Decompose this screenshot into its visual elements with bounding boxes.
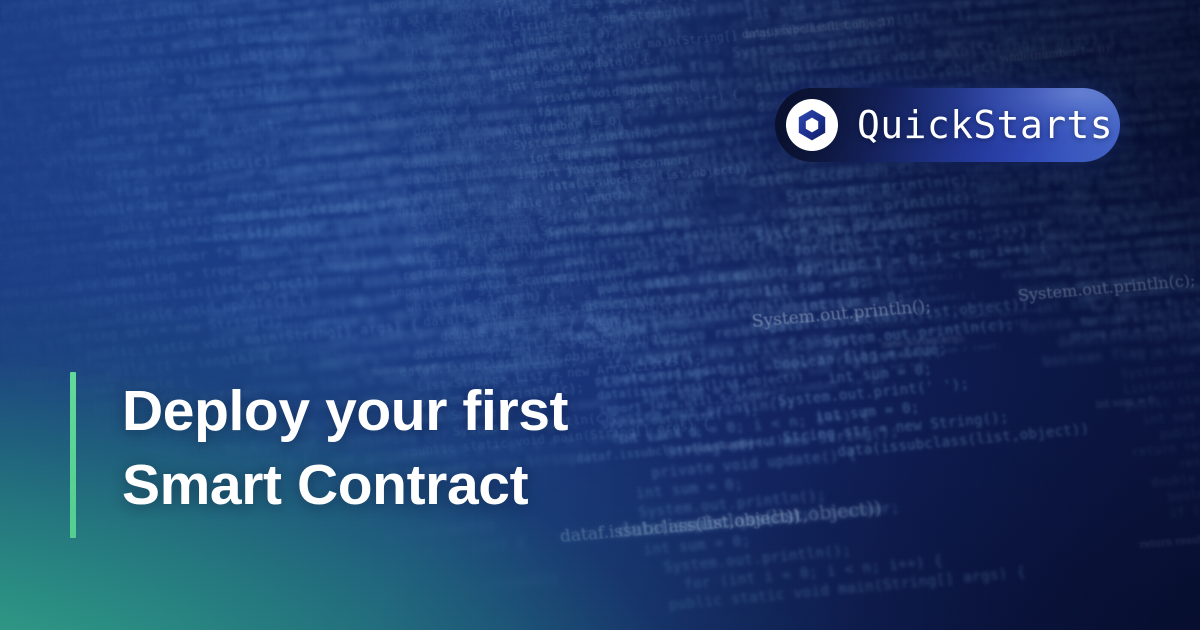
quickstart-banner: import java.util.Scanner; while (i < len… bbox=[0, 0, 1200, 630]
headline-block: Deploy your first Smart Contract bbox=[70, 372, 568, 538]
headline-line-1: Deploy your first bbox=[122, 374, 568, 448]
quickstarts-badge-label: QuickStarts bbox=[857, 103, 1113, 147]
accent-bar bbox=[70, 372, 76, 538]
page-title: Deploy your first Smart Contract bbox=[122, 372, 568, 538]
chainlink-hexagon-icon bbox=[786, 99, 838, 151]
headline-line-2: Smart Contract bbox=[122, 448, 568, 522]
quickstarts-badge[interactable]: QuickStarts bbox=[775, 88, 1120, 162]
